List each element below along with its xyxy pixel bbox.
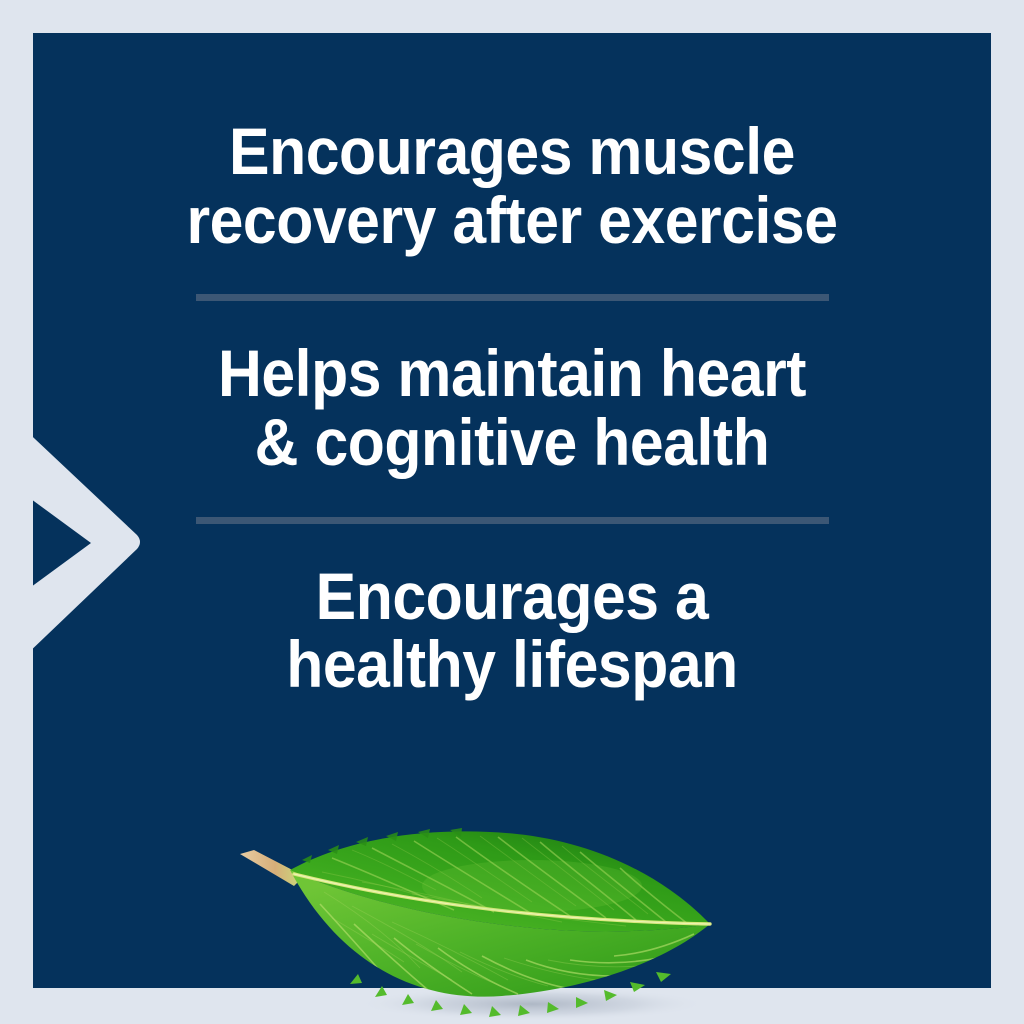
benefit-item-3: Encourages a healthy lifespan bbox=[33, 562, 991, 699]
benefits-list: Encourages muscle recovery after exercis… bbox=[33, 33, 991, 988]
benefit-text-3: Encourages a healthy lifespan bbox=[144, 562, 880, 699]
graphic-canvas: Encourages muscle recovery after exercis… bbox=[0, 0, 1024, 1024]
benefit-text-1: Encourages muscle recovery after exercis… bbox=[144, 117, 880, 254]
benefit-item-1: Encourages muscle recovery after exercis… bbox=[33, 117, 991, 254]
benefit-text-2: Helps maintain heart & cognitive health bbox=[144, 339, 880, 476]
benefit-divider-1 bbox=[196, 294, 829, 301]
benefit-divider-2 bbox=[196, 517, 829, 524]
benefit-item-2: Helps maintain heart & cognitive health bbox=[33, 339, 991, 476]
benefits-panel: Encourages muscle recovery after exercis… bbox=[33, 33, 991, 988]
